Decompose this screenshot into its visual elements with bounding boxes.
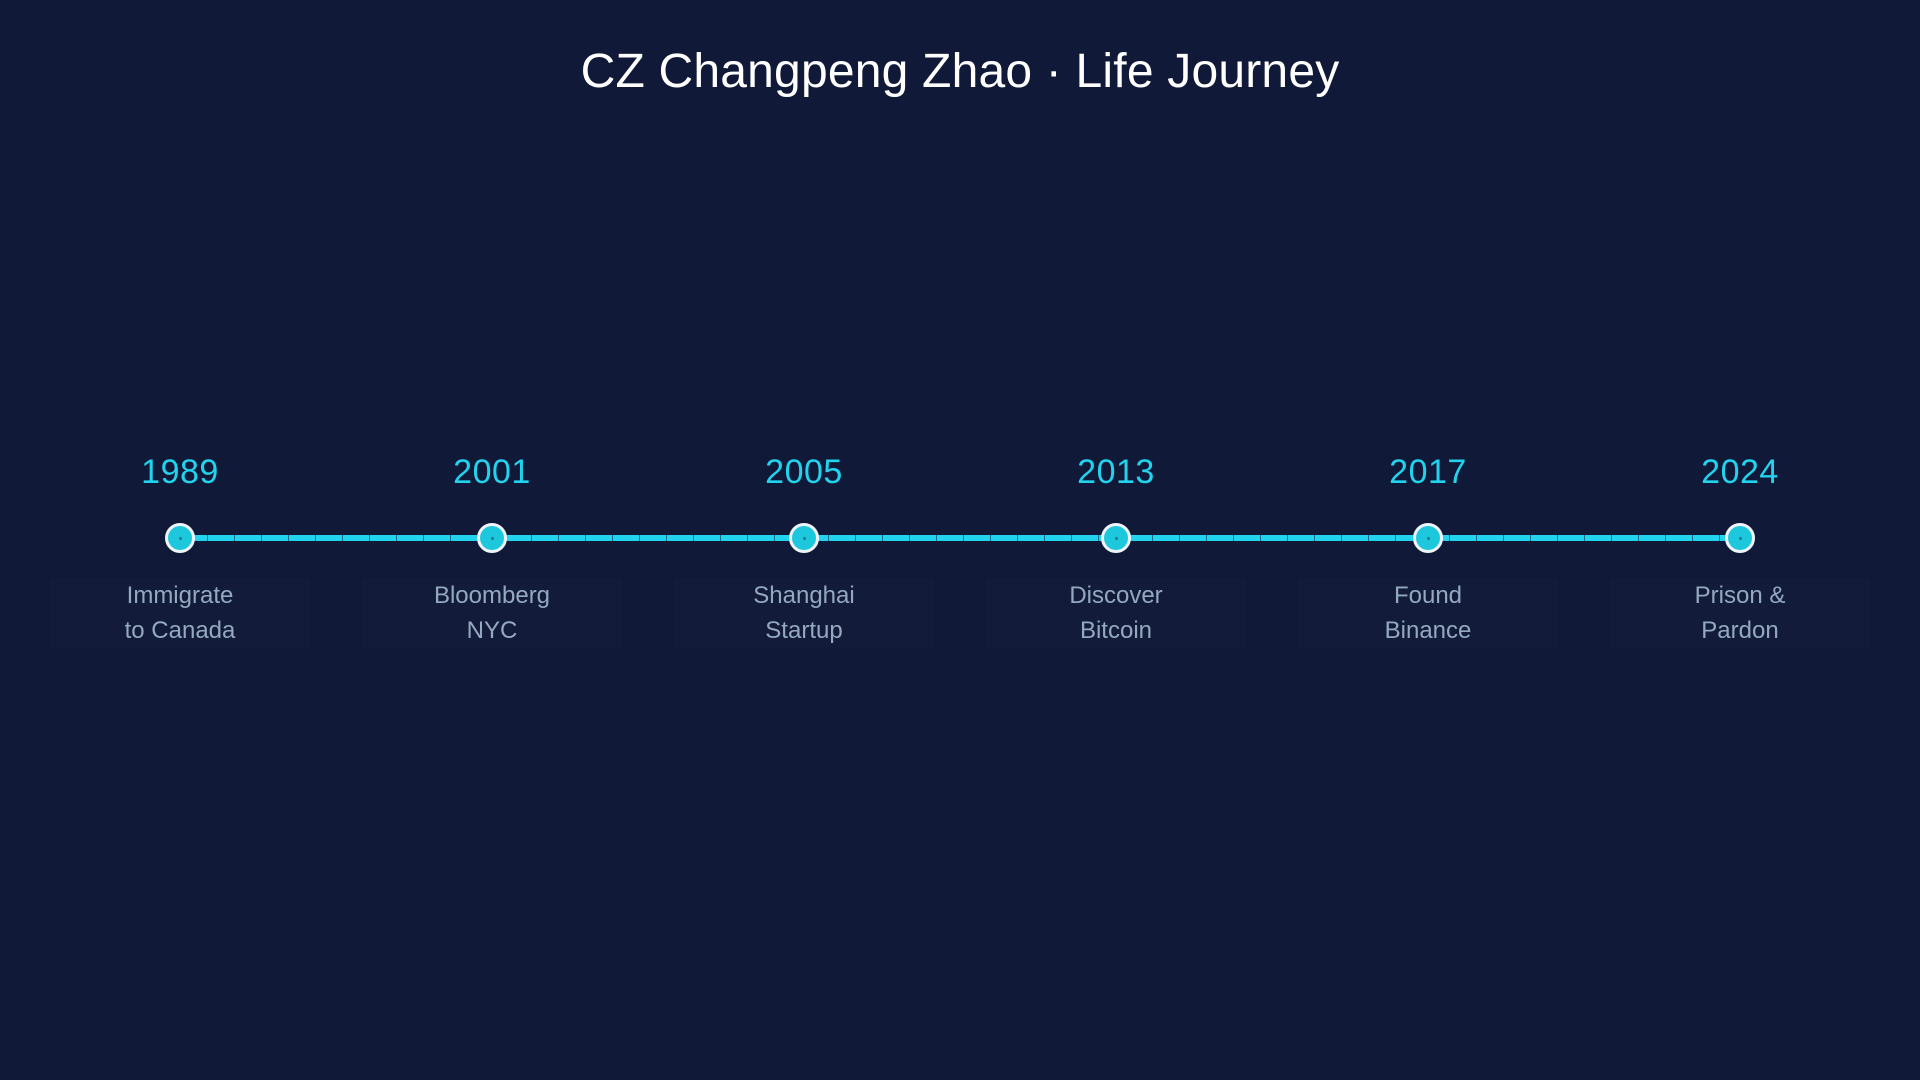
- milestone-year-label: 2013: [986, 455, 1246, 489]
- milestone-node-marker[interactable]: [1413, 523, 1443, 553]
- milestone-year-label: 2001: [362, 455, 622, 489]
- milestone-year-label: 2017: [1298, 455, 1558, 489]
- milestone-description-line-1: Bloomberg: [362, 578, 622, 613]
- milestone-description-line-1: Prison &: [1610, 578, 1870, 613]
- milestone-description-line-2: NYC: [362, 613, 622, 648]
- milestone-description: FoundBinance: [1298, 578, 1558, 648]
- milestone-description-line-2: to Canada: [50, 613, 310, 648]
- milestone-description-line-1: Found: [1298, 578, 1558, 613]
- milestone-description-line-2: Startup: [674, 613, 934, 648]
- milestone-year-label: 2005: [674, 455, 934, 489]
- milestone-node-marker[interactable]: [165, 523, 195, 553]
- milestone-description: Immigrateto Canada: [50, 578, 310, 648]
- milestone-description: Prison &Pardon: [1610, 578, 1870, 648]
- milestone-year-label: 1989: [50, 455, 310, 489]
- milestone-description-line-1: Immigrate: [50, 578, 310, 613]
- timeline-axis-tick-marks: [180, 534, 1740, 542]
- milestone-node-marker[interactable]: [789, 523, 819, 553]
- milestone-description: ShanghaiStartup: [674, 578, 934, 648]
- milestone-description-line-2: Pardon: [1610, 613, 1870, 648]
- milestone-description-line-1: Shanghai: [674, 578, 934, 613]
- milestone-description-line-2: Bitcoin: [986, 613, 1246, 648]
- timeline-chart: 1989Immigrateto Canada2001BloombergNYC20…: [0, 0, 1920, 1080]
- milestone-node-marker[interactable]: [1725, 523, 1755, 553]
- milestone-description-line-1: Discover: [986, 578, 1246, 613]
- milestone-description: DiscoverBitcoin: [986, 578, 1246, 648]
- milestone-node-marker[interactable]: [1101, 523, 1131, 553]
- milestone-description: BloombergNYC: [362, 578, 622, 648]
- milestone-description-line-2: Binance: [1298, 613, 1558, 648]
- milestone-year-label: 2024: [1610, 455, 1870, 489]
- milestone-node-marker[interactable]: [477, 523, 507, 553]
